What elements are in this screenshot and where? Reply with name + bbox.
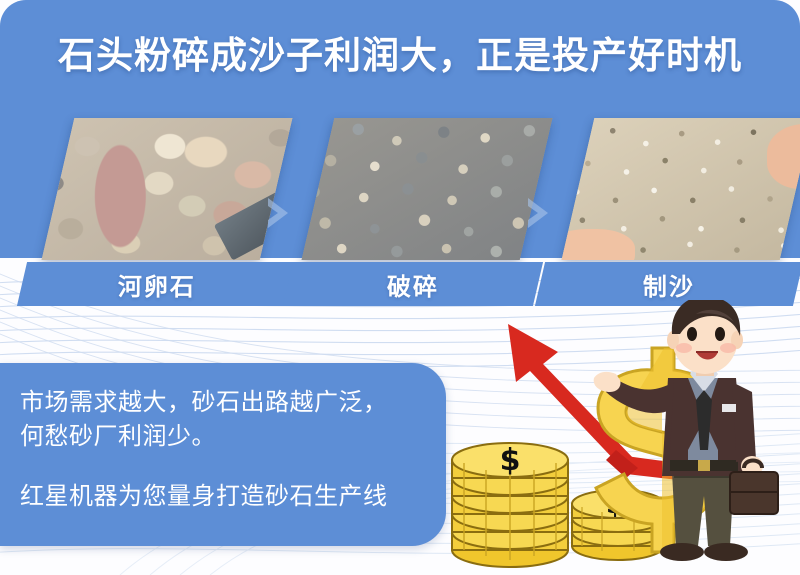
hand-left [594, 372, 621, 392]
stage-label-text: 河卵石 [118, 267, 196, 302]
machine-made-sand-photo [562, 118, 800, 260]
river-pebbles-image [42, 118, 293, 260]
chevron-right-icon [264, 196, 294, 230]
stage-label-river-pebbles: 河卵石 [17, 262, 297, 306]
message-line-2: 何愁砂厂利润少。 [20, 420, 216, 454]
svg-text:$: $ [500, 443, 521, 478]
crushed-gravel-photo [302, 118, 553, 260]
chevron-right-icon [524, 196, 554, 230]
stage-label-text: 破碎 [387, 267, 439, 302]
message-line-3: 红星机器为您量身打造砂石生产线 [20, 480, 388, 514]
machine-made-sand-image [562, 118, 800, 260]
poster-canvas: 石头粉碎成沙子利润大，正是投产好时机 河卵石 破碎 制沙 [0, 0, 800, 575]
river-pebbles-photo [42, 118, 293, 260]
message-card: 市场需求越大，砂石出路越广泛， 何愁砂厂利润少。 红星机器为您量身打造砂石生产线 [0, 363, 446, 546]
shoe-right [704, 543, 748, 561]
shoe-left [660, 543, 704, 561]
eye-left [687, 327, 697, 341]
page-title: 石头粉碎成沙子利润大，正是投产好时机 [0, 25, 800, 79]
message-line-1: 市场需求越大，砂石出路越广泛， [20, 386, 388, 420]
eye-right [715, 327, 725, 341]
businessman-profit-illustration: $ $ [430, 300, 800, 575]
hand-right [767, 124, 800, 189]
hand-left [562, 229, 635, 260]
crushed-gravel-image [302, 118, 553, 260]
stage-label-text: 制沙 [643, 267, 695, 302]
gold-coin-stack-icon: $ [452, 443, 568, 567]
